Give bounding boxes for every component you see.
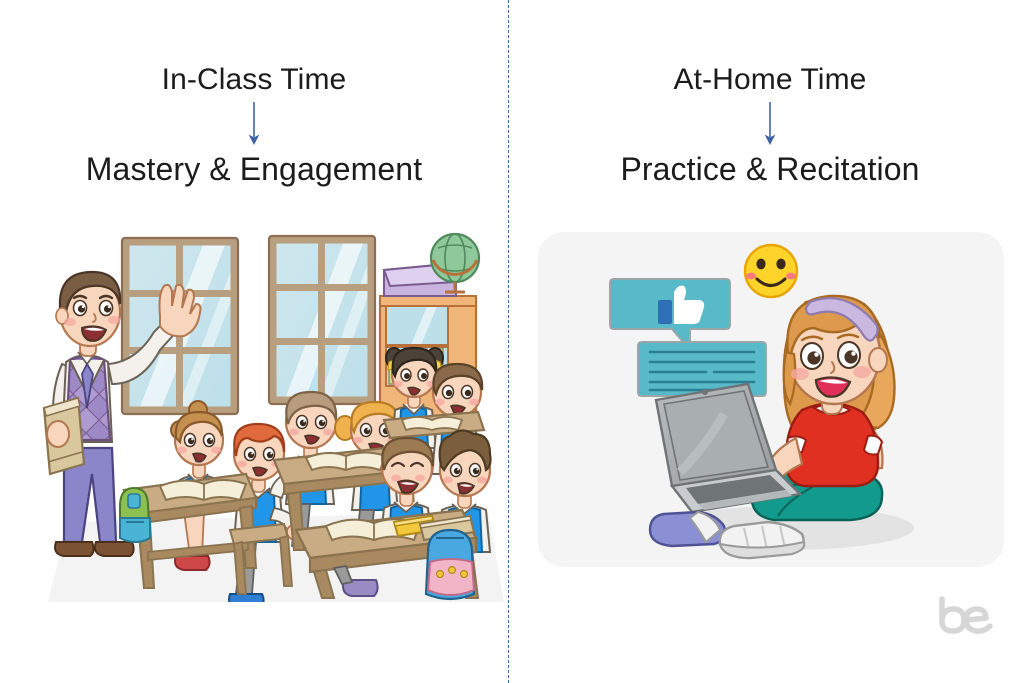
blue-pink-backpack xyxy=(426,530,474,599)
in-class-title: In-Class Time xyxy=(0,62,508,98)
classroom-illustration xyxy=(8,212,504,602)
at-home-arrow-wrap xyxy=(516,98,1024,150)
at-home-subtitle: Practice & Recitation xyxy=(516,150,1024,188)
smiley-emoji xyxy=(745,245,797,297)
sneaker-right xyxy=(720,522,804,558)
infographic-canvas: In-Class Time Mastery & Engagement xyxy=(0,0,1024,683)
second-classroom-window xyxy=(269,230,392,404)
down-arrow-icon xyxy=(243,101,265,147)
thumbs-up-chat-bubble xyxy=(610,279,730,350)
in-class-heading-block: In-Class Time Mastery & Engagement xyxy=(0,62,508,188)
be-logo-watermark xyxy=(936,595,1000,635)
open-textbook xyxy=(160,480,246,500)
at-home-title: At-Home Time xyxy=(516,62,1024,98)
column-at-home: At-Home Time Practice & Recitation xyxy=(516,0,1024,683)
green-backpack xyxy=(120,488,150,542)
column-in-class: In-Class Time Mastery & Engagement xyxy=(0,0,508,683)
girl-with-laptop-illustration xyxy=(538,232,1004,567)
sneaker-left xyxy=(650,512,725,546)
down-arrow-icon xyxy=(759,101,781,147)
in-class-subtitle: Mastery & Engagement xyxy=(0,150,508,188)
laptop xyxy=(656,384,800,512)
in-class-arrow-wrap xyxy=(0,98,508,150)
at-home-heading-block: At-Home Time Practice & Recitation xyxy=(516,62,1024,188)
open-textbook xyxy=(306,453,386,471)
column-divider xyxy=(508,0,509,683)
